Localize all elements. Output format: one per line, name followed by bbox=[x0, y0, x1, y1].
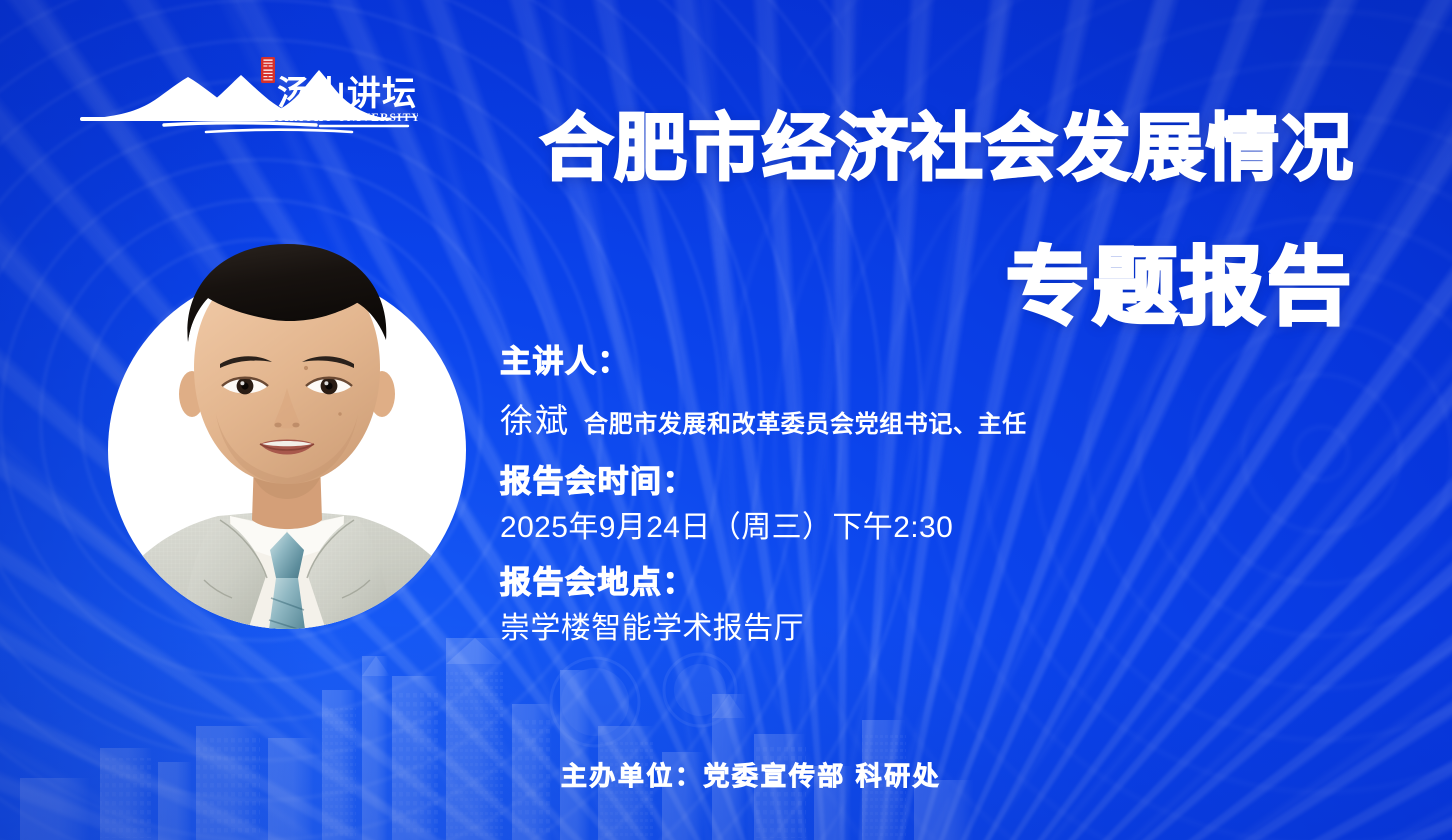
organizer-line: 主办单位：党委宣传部 科研处 bbox=[0, 756, 1452, 793]
page-title-main: 合肥市经济社会发展情况 bbox=[540, 112, 1354, 185]
speaker-portrait bbox=[108, 228, 466, 666]
logo-name-cn: 汤山讲坛 bbox=[277, 74, 417, 114]
event-details: 主讲人： 徐斌 合肥市发展和改革委员会党组书记、主任 报告会时间： 2025年9… bbox=[500, 344, 1290, 647]
place-label: 报告会地点： bbox=[500, 565, 1290, 601]
chaohu-university-logo: 汤山讲坛 CHAOHU UNIVERSITY bbox=[78, 55, 418, 140]
time-label: 报告会时间： bbox=[500, 464, 1290, 500]
speaker-title: 合肥市发展和改革委员会党组书记、主任 bbox=[584, 404, 1027, 439]
poster-canvas: 汤山讲坛 CHAOHU UNIVERSITY 合肥市经济社会发展情况 专题报告 bbox=[0, 0, 1452, 840]
speaker-label: 主讲人： bbox=[500, 344, 1290, 380]
time-value: 2025年9月24日（周三）下午2:30 bbox=[500, 510, 1290, 545]
red-seal-stamp-icon bbox=[261, 57, 275, 83]
speaker-name: 徐斌 bbox=[500, 394, 570, 442]
speaker-row: 徐斌 合肥市发展和改革委员会党组书记、主任 bbox=[500, 394, 1290, 442]
page-title-sub: 专题报告 bbox=[1006, 245, 1354, 329]
logo-name-en: CHAOHU UNIVERSITY bbox=[275, 112, 418, 124]
place-value: 崇学楼智能学术报告厅 bbox=[500, 611, 1290, 646]
